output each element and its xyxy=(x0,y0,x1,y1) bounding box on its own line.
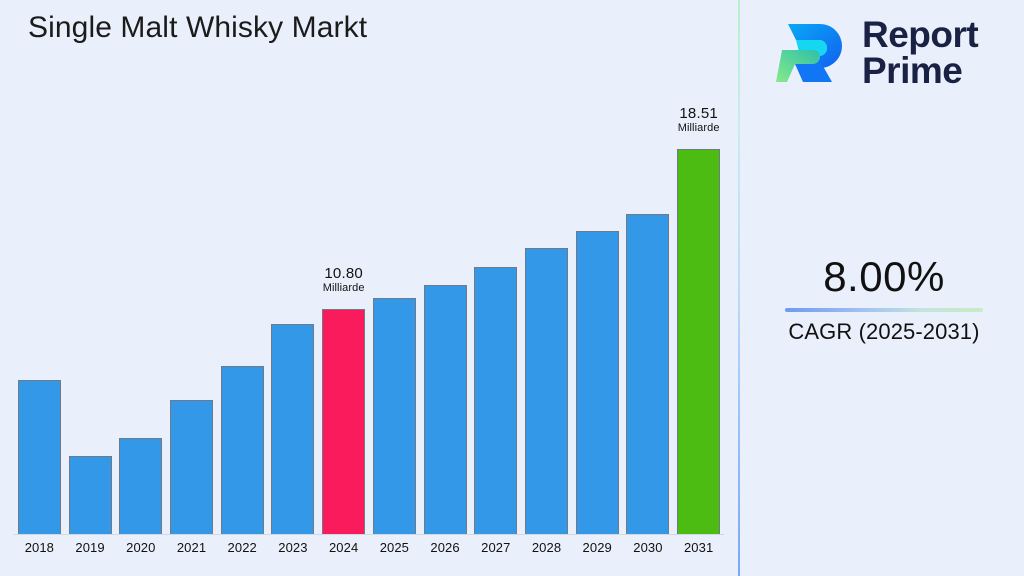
bar-rect-2031[interactable] xyxy=(677,149,720,534)
bar-chart: 20182019202020212022202310.80Milliarde20… xyxy=(0,0,738,576)
bar-rect-2021[interactable] xyxy=(170,400,213,534)
x-axis-tick-2024: 2024 xyxy=(318,540,369,555)
x-axis-tick-2031: 2031 xyxy=(673,540,724,555)
bar-rect-2029[interactable] xyxy=(576,231,619,534)
plot-area xyxy=(14,118,724,534)
bar-2028[interactable] xyxy=(525,118,568,534)
x-axis-baseline xyxy=(14,534,724,535)
x-axis-tick-2030: 2030 xyxy=(623,540,674,555)
bar-2027[interactable] xyxy=(474,118,517,534)
x-axis-tick-2023: 2023 xyxy=(268,540,319,555)
bar-2023[interactable] xyxy=(271,118,314,534)
x-axis-tick-2020: 2020 xyxy=(115,540,166,555)
cagr-value: 8.00% xyxy=(760,255,1008,299)
x-axis-tick-2028: 2028 xyxy=(521,540,572,555)
bar-2020[interactable] xyxy=(119,118,162,534)
cagr-label: CAGR (2025-2031) xyxy=(760,319,1008,345)
x-axis-tick-2019: 2019 xyxy=(65,540,116,555)
bar-2022[interactable] xyxy=(221,118,264,534)
x-axis-tick-2027: 2027 xyxy=(470,540,521,555)
logo-line-1: Report xyxy=(862,17,978,53)
cagr-panel: 8.00% CAGR (2025-2031) xyxy=(760,255,1008,345)
bar-rect-2026[interactable] xyxy=(424,285,467,534)
panel-divider xyxy=(738,0,740,576)
bar-2030[interactable] xyxy=(626,118,669,534)
bar-2019[interactable] xyxy=(69,118,112,534)
bar-rect-2020[interactable] xyxy=(119,438,162,534)
x-axis-tick-2026: 2026 xyxy=(420,540,471,555)
bar-2026[interactable] xyxy=(424,118,467,534)
bar-rect-2027[interactable] xyxy=(474,267,517,534)
bar-rect-2025[interactable] xyxy=(373,298,416,534)
x-axis-tick-2025: 2025 xyxy=(369,540,420,555)
bar-2024[interactable] xyxy=(322,118,365,534)
infographic-root: Single Malt Whisky Markt Report Prime xyxy=(0,0,1024,576)
bar-rect-2022[interactable] xyxy=(221,366,264,534)
bar-2018[interactable] xyxy=(18,118,61,534)
bar-2031[interactable] xyxy=(677,118,720,534)
x-axis-tick-2029: 2029 xyxy=(572,540,623,555)
bar-2025[interactable] xyxy=(373,118,416,534)
bar-2021[interactable] xyxy=(170,118,213,534)
x-axis-tick-2021: 2021 xyxy=(166,540,217,555)
logo-line-2: Prime xyxy=(862,53,978,89)
bar-rect-2028[interactable] xyxy=(525,248,568,534)
report-prime-r-monogram-icon xyxy=(776,16,848,90)
bar-rect-2030[interactable] xyxy=(626,214,669,534)
report-prime-logo: Report Prime xyxy=(776,12,1006,94)
report-prime-wordmark: Report Prime xyxy=(862,17,978,90)
x-axis-tick-2018: 2018 xyxy=(14,540,65,555)
cagr-divider-rule xyxy=(785,308,983,312)
bar-rect-2023[interactable] xyxy=(271,324,314,534)
bar-rect-2019[interactable] xyxy=(69,456,112,534)
bar-2029[interactable] xyxy=(576,118,619,534)
x-axis-tick-2022: 2022 xyxy=(217,540,268,555)
bar-rect-2018[interactable] xyxy=(18,380,61,534)
bar-rect-2024[interactable] xyxy=(322,309,365,534)
